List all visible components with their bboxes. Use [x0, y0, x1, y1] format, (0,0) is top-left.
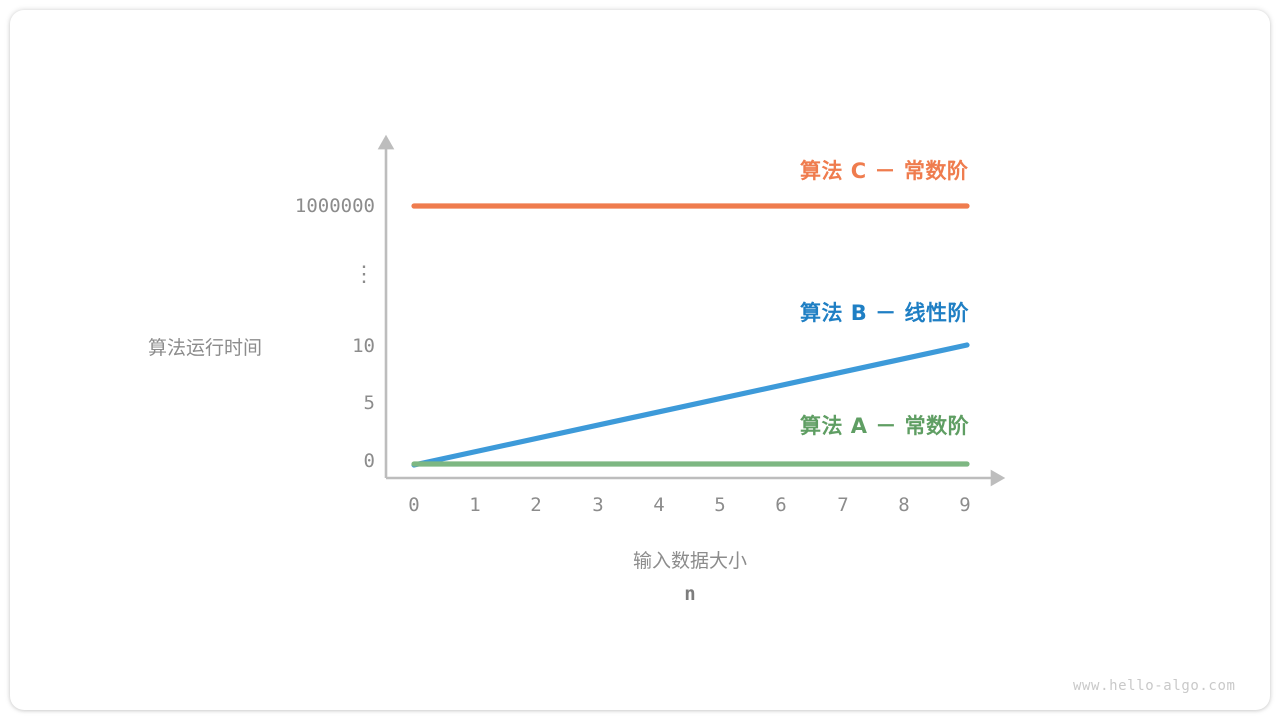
- y-tick-5: 5: [180, 392, 375, 414]
- x-tick-7: 7: [828, 494, 858, 516]
- y-tick-1000000: 1000000: [180, 195, 375, 217]
- x-tick-1: 1: [460, 494, 490, 516]
- legend-label-algorithm-b: 算法 B － 线性阶: [800, 297, 969, 327]
- x-tick-0: 0: [399, 494, 429, 516]
- chart-stage: 1000000 ⋮ 10 5 0 0 1 2 3 4 5 6 7 8 9 算法运…: [10, 10, 1270, 710]
- x-tick-8: 8: [889, 494, 919, 516]
- x-tick-9: 9: [950, 494, 980, 516]
- x-tick-5: 5: [705, 494, 735, 516]
- watermark: www.hello-algo.com: [1073, 678, 1236, 694]
- chart-card: 1000000 ⋮ 10 5 0 0 1 2 3 4 5 6 7 8 9 算法运…: [10, 10, 1270, 710]
- series-line-b: [414, 345, 967, 465]
- legend-label-algorithm-c: 算法 C － 常数阶: [800, 155, 968, 185]
- x-axis-title-variable: n: [590, 583, 790, 605]
- x-tick-4: 4: [644, 494, 674, 516]
- y-axis-title: 算法运行时间: [105, 333, 305, 360]
- legend-label-algorithm-a: 算法 A － 常数阶: [800, 410, 969, 440]
- x-tick-3: 3: [583, 494, 613, 516]
- x-axis-title: 输入数据大小: [590, 546, 790, 573]
- y-tick-ellipsis: ⋮: [180, 264, 375, 286]
- chart-canvas: [10, 10, 1270, 710]
- x-tick-6: 6: [766, 494, 796, 516]
- x-tick-2: 2: [521, 494, 551, 516]
- y-tick-0: 0: [180, 450, 375, 472]
